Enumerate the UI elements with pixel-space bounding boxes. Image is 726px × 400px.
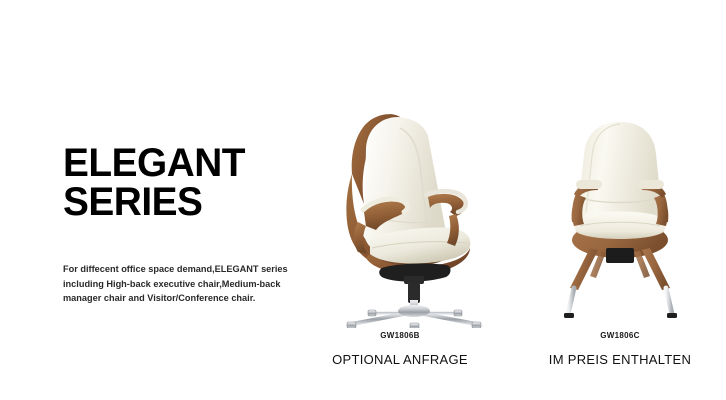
chair-image-gw1806c	[520, 100, 720, 328]
product-availability-label: IM PREIS ENTHALTEN	[549, 352, 691, 367]
visitor-chair-icon	[520, 100, 720, 328]
product-card-gw1806b[interactable]: GW1806B OPTIONAL ANFRAGE	[300, 100, 500, 390]
chair-image-gw1806b	[300, 100, 500, 328]
product-gallery: GW1806B OPTIONAL ANFRAGE	[300, 100, 720, 390]
elegant-series-product-banner: ELEGANT SERIES For diffecent office spac…	[0, 0, 726, 400]
series-description: For diffecent office space demand,ELEGAN…	[63, 262, 309, 306]
product-card-gw1806c[interactable]: GW1806C IM PREIS ENTHALTEN	[520, 100, 720, 390]
product-availability-label: OPTIONAL ANFRAGE	[332, 352, 468, 367]
product-code: GW1806C	[600, 331, 639, 340]
executive-chair-icon	[300, 100, 500, 328]
page-title: ELEGANT SERIES	[63, 144, 306, 222]
product-code: GW1806B	[380, 331, 419, 340]
headline-block: ELEGANT SERIES	[63, 144, 313, 222]
